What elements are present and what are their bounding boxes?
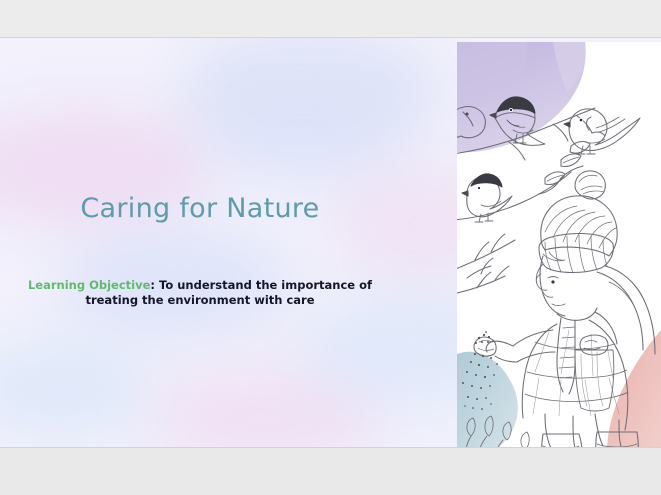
- learning-objective-label: Learning Objective: [28, 278, 150, 292]
- learning-objective-separator: :: [150, 278, 159, 292]
- learning-objective: Learning Objective: To understand the im…: [20, 278, 380, 308]
- page-title: Caring for Nature: [0, 193, 400, 224]
- slide-viewer: Caring for Nature Learning Objective: To…: [0, 0, 661, 495]
- child-feeding-birds-sketch-icon: [457, 42, 661, 447]
- presentation-slide[interactable]: Caring for Nature Learning Objective: To…: [0, 38, 661, 447]
- slide-text-block: Caring for Nature Learning Objective: To…: [0, 38, 455, 447]
- illustration-panel: [457, 42, 661, 447]
